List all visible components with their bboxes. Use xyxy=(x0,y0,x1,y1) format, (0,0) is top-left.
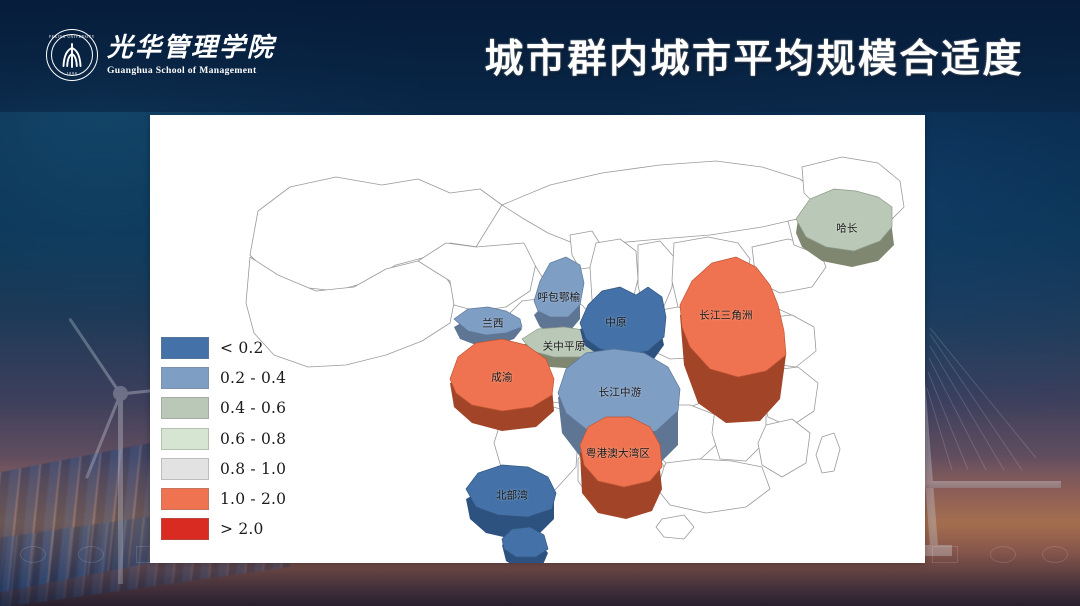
map-legend: < 0.2 0.2 - 0.4 0.4 - 0.6 0.6 - 0.8 0.8 … xyxy=(161,337,286,540)
region-label-greater-bay: 粤港澳大湾区 xyxy=(586,446,650,461)
legend-item: > 2.0 xyxy=(161,518,286,540)
logo-name-en: Guanghua School of Management xyxy=(107,65,275,76)
legend-label: 0.8 - 1.0 xyxy=(220,460,286,478)
legend-label: > 2.0 xyxy=(220,520,264,538)
turbine-blade xyxy=(85,393,122,479)
legend-item: 0.4 - 0.6 xyxy=(161,397,286,419)
institution-logo: PEKING UNIVERSITY 1898 xyxy=(46,29,275,81)
slide-root: PEKING UNIVERSITY 1898 xyxy=(0,0,1080,606)
region-label-lanxi: 兰西 xyxy=(482,316,503,331)
region-label-hachang: 哈长 xyxy=(836,221,857,236)
legend-item: < 0.2 xyxy=(161,337,286,359)
legend-label: < 0.2 xyxy=(220,339,264,357)
legend-swatch xyxy=(161,488,209,510)
slide-header: PEKING UNIVERSITY 1898 xyxy=(0,0,1080,112)
figure-panel: 哈长 呼包鄂榆 兰西 关中平原 中原 长江三角洲 成渝 长江中游 粤港澳大湾区 … xyxy=(150,115,925,563)
region-label-zhongyuan: 中原 xyxy=(605,315,626,330)
legend-label: 0.4 - 0.6 xyxy=(220,399,286,417)
seal-bottom-text: 1898 xyxy=(46,71,98,76)
legend-swatch xyxy=(161,518,209,540)
region-beibuwan xyxy=(466,465,556,563)
region-label-beibuwan: 北部湾 xyxy=(496,488,528,503)
legend-item: 0.6 - 0.8 xyxy=(161,428,286,450)
region-yuegangaodawanqu xyxy=(580,417,662,519)
region-label-guanzhong: 关中平原 xyxy=(543,339,586,354)
page-title: 城市群内城市平均规模合适度 xyxy=(484,28,1024,84)
seal-top-text: PEKING UNIVERSITY xyxy=(46,35,98,39)
region-label-hubaoeyu: 呼包鄂榆 xyxy=(538,290,581,305)
legend-swatch xyxy=(161,458,209,480)
logo-name-cn: 光华管理学院 xyxy=(107,34,275,61)
legend-label: 1.0 - 2.0 xyxy=(220,490,286,508)
turbine-blade xyxy=(68,318,122,396)
legend-label: 0.6 - 0.8 xyxy=(220,430,286,448)
legend-item: 0.8 - 1.0 xyxy=(161,458,286,480)
region-label-chengyu: 成渝 xyxy=(491,370,512,385)
region-label-yangtze-delta: 长江三角洲 xyxy=(699,308,753,323)
seal-glyph-icon xyxy=(57,40,87,70)
peking-university-seal-icon: PEKING UNIVERSITY 1898 xyxy=(46,29,98,81)
region-label-yangtze-mid: 长江中游 xyxy=(599,385,642,400)
legend-swatch xyxy=(161,428,209,450)
legend-item: 1.0 - 2.0 xyxy=(161,488,286,510)
legend-label: 0.2 - 0.4 xyxy=(220,369,286,387)
legend-swatch xyxy=(161,367,209,389)
turbine-hub xyxy=(113,386,128,401)
legend-item: 0.2 - 0.4 xyxy=(161,367,286,389)
legend-swatch xyxy=(161,337,209,359)
legend-swatch xyxy=(161,397,209,419)
